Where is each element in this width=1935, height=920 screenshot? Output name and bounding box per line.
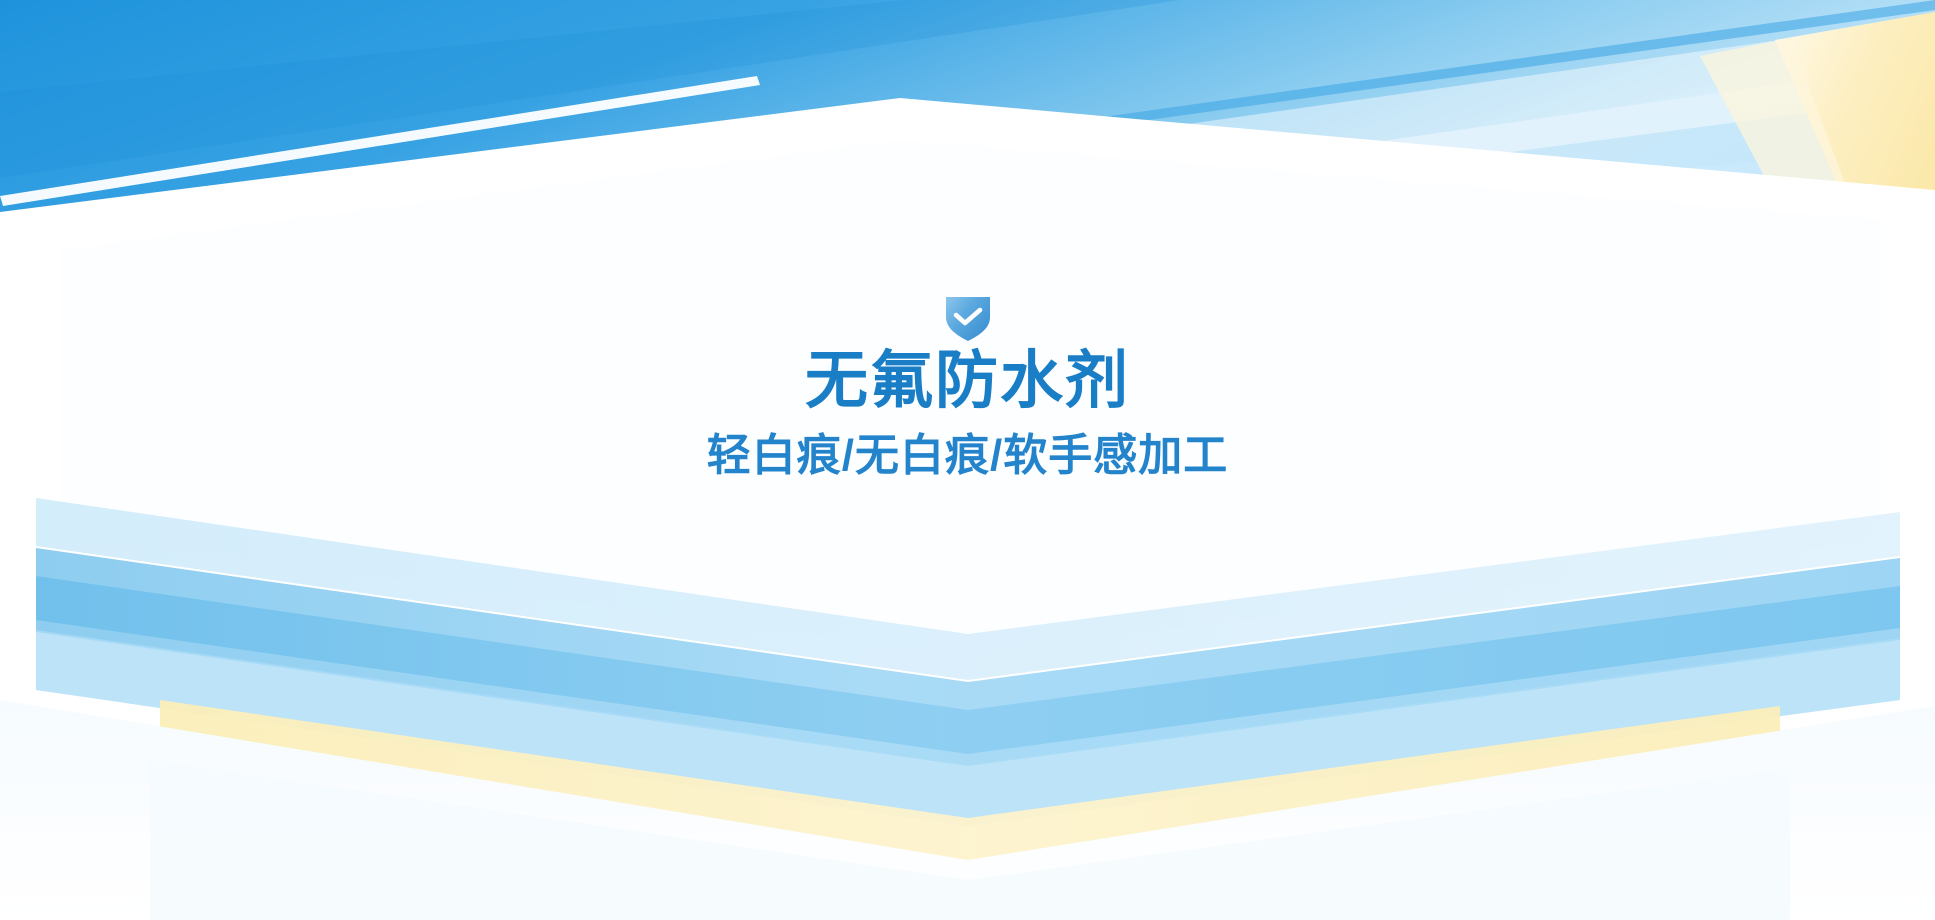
background-shapes-svg: [0, 0, 1935, 920]
background-artwork: [0, 0, 1935, 920]
product-hero-banner: 无氟防水剂 轻白痕/无白痕/软手感加工: [0, 0, 1935, 920]
